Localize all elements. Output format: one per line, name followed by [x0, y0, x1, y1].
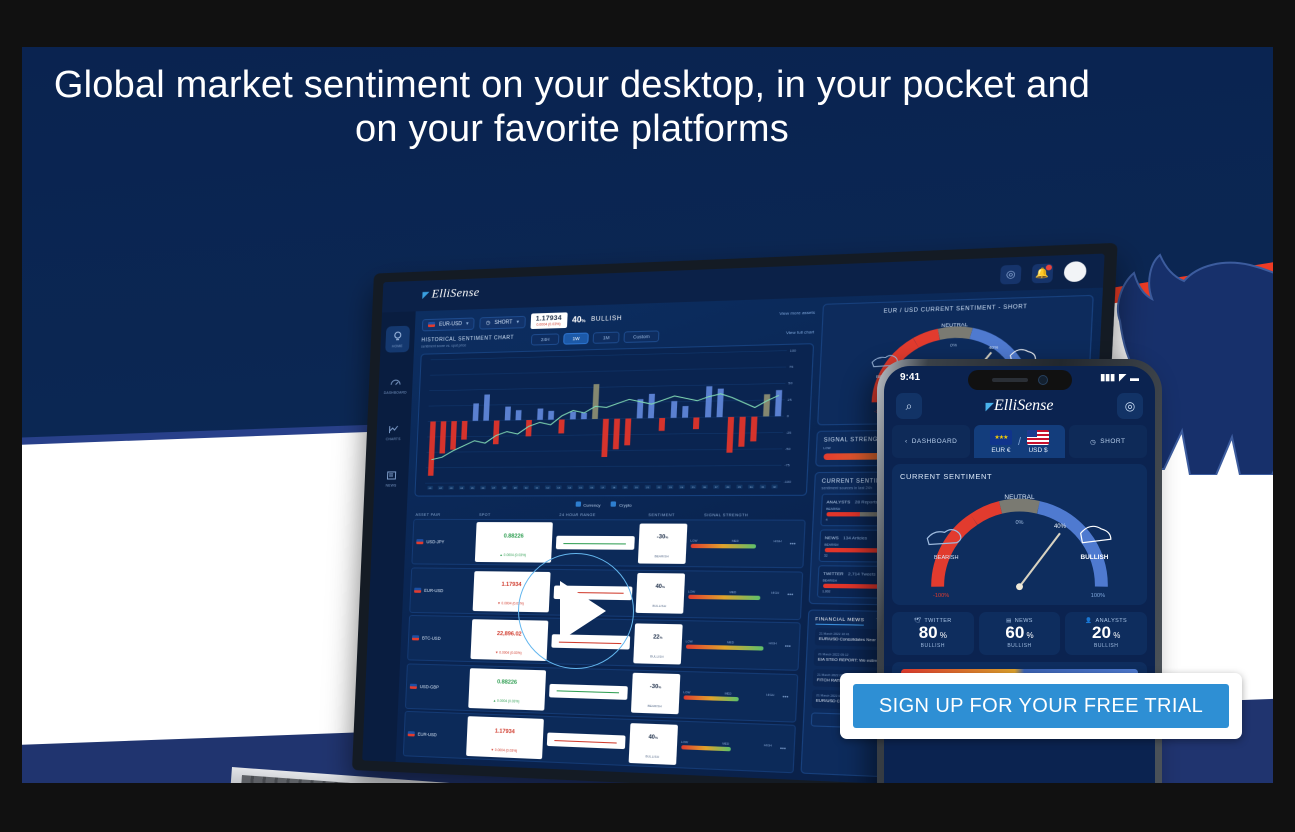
phone-stat-analysts: 👤ANALYSTS20 %BULLISH [1065, 612, 1147, 655]
camera-icon [1038, 375, 1048, 385]
sidebar-item-news[interactable]: NEWS [379, 465, 404, 491]
cell-sentiment: 40%BULLISH [635, 573, 684, 614]
screenshot-stage: Global market sentiment on your desktop,… [0, 0, 1295, 832]
cell-sentiment: -30%BEARISH [631, 673, 680, 715]
asset-pair-select[interactable]: EUR-USD ▾ [422, 317, 475, 331]
breakdown-count: 2,714 Tweets [848, 570, 876, 576]
cell-24h-range [556, 536, 635, 550]
sidebar-item-dashboard[interactable]: DASHBOARD [383, 372, 408, 399]
pair-flag-icon [428, 322, 435, 327]
play-triangle-icon [560, 581, 606, 641]
col-spot: SPOT [479, 512, 555, 516]
status-indicators: ▮▮▮ ◤ ▬ [1100, 372, 1139, 383]
breakdown-count: 28 Reports [855, 498, 878, 503]
stat-value: 20 % [1065, 624, 1147, 643]
row-menu-icon[interactable]: ••• [786, 541, 800, 548]
chevron-down-icon: ▾ [466, 320, 469, 326]
sentiment-percent: 40% [572, 315, 586, 325]
avatar[interactable] [1064, 261, 1087, 282]
svg-text:75: 75 [789, 365, 794, 369]
pair-flag-icon [408, 731, 415, 736]
svg-text:BULLISH: BULLISH [1080, 554, 1108, 561]
timeframe-custom[interactable]: Custom [623, 330, 660, 343]
sidebar-item-label: HOME [392, 344, 403, 348]
cell-asset-pair: EUR-USD [414, 587, 469, 593]
bulb-icon [392, 330, 404, 342]
signal-low: LOW [823, 446, 831, 450]
svg-text:40%: 40% [988, 344, 998, 350]
cell-spot: 1.17934▼ 0.0004 (0.03%) [466, 716, 544, 759]
asset-pair-value: EUR-USD [439, 320, 462, 327]
coins-icon[interactable]: ◎ [1000, 264, 1022, 284]
tab-financial-news[interactable]: FINANCIAL NEWS [815, 616, 865, 626]
breakdown-source: NEWS [825, 534, 839, 539]
stat-word: BULLISH [979, 643, 1061, 649]
us-flag-icon [1027, 430, 1049, 445]
cell-24h-range [547, 732, 626, 749]
svg-text:0%: 0% [1015, 520, 1023, 526]
cell-sentiment: -30%BEARISH [638, 523, 687, 563]
timeframe-24h[interactable]: 24H [531, 333, 559, 345]
col-signal: SIGNAL STRENGTH [704, 513, 803, 517]
cell-asset-pair: USD-JPY [416, 539, 471, 544]
battery-icon: ▬ [1130, 373, 1139, 383]
chart-icon [387, 423, 399, 435]
svg-text:40%: 40% [1054, 524, 1067, 530]
checkbox-icon [575, 501, 581, 506]
pair-flag-icon [414, 587, 421, 592]
svg-text:NEUTRAL: NEUTRAL [941, 322, 968, 328]
pair-quote: USD $ [1027, 430, 1049, 454]
phone-stat-news: ▤NEWS60 %BULLISH [979, 612, 1061, 655]
cell-signal-strength: LOWMEDHIGH [688, 589, 779, 600]
cell-signal-strength: LOWMEDHIGH [681, 740, 772, 753]
cell-asset-pair: BTC-USD [412, 635, 467, 641]
cell-spot: 0.88226▲ 0.0004 (0.03%) [468, 668, 546, 710]
svg-text:50: 50 [788, 381, 793, 385]
svg-text:100: 100 [790, 349, 797, 353]
breakdown-source: ANALYSTS [826, 498, 850, 503]
term-value: SHORT [494, 319, 512, 326]
filter-currency[interactable]: Currency [575, 501, 600, 507]
breakdown-count: 134 Articles [843, 534, 867, 540]
speaker-icon [992, 378, 1028, 382]
sidebar-item-charts[interactable]: CHARTS [381, 419, 406, 446]
phone-gauge-svg: NEUTRAL 0% 40% -100% 100% BEARISH BULLIS… [900, 485, 1139, 597]
pair-quote-label: USD $ [1028, 447, 1047, 454]
svg-text:-100%: -100% [933, 593, 949, 597]
pair-flag-icon [410, 683, 417, 688]
chevron-down-icon: ▾ [516, 319, 519, 325]
gauge-icon [389, 376, 401, 388]
term-selector[interactable]: ◷ SHORT [1069, 425, 1147, 458]
svg-text:NEUTRAL: NEUTRAL [1004, 494, 1035, 501]
svg-text:-50: -50 [785, 447, 791, 451]
phone-stat-twitter: 🕊TWITTER80 %BULLISH [892, 612, 974, 655]
stat-value: 80 % [892, 624, 974, 643]
pair-base-label: EUR € [991, 447, 1010, 454]
timeframe-1m[interactable]: 1M [593, 332, 619, 344]
cell-signal-strength: LOWMEDHIGH [683, 690, 774, 702]
phone-nav: ‹ DASHBOARD ★★★ EUR € / USD $ [884, 425, 1155, 458]
svg-text:-75: -75 [784, 463, 790, 467]
phone-notch [968, 370, 1072, 390]
svg-text:25: 25 [787, 398, 792, 402]
asset-filters: Currency Crypto [414, 501, 806, 508]
phone-sentiment-gauge: NEUTRAL 0% 40% -100% 100% BEARISH BULLIS… [900, 485, 1139, 597]
sidebar-item-label: DASHBOARD [384, 390, 407, 395]
timeframe-1w[interactable]: 1W [563, 332, 590, 344]
main-left-column: EUR-USD ▾ ◷ SHORT ▾ 1.17934 [403, 304, 816, 773]
cell-spot: 0.88226▲ 0.0004 (0.03%) [474, 522, 552, 563]
term-select[interactable]: ◷ SHORT ▾ [480, 315, 526, 329]
signal-icon: ▮▮▮ [1100, 372, 1115, 383]
pair-selector[interactable]: ★★★ EUR € / USD $ [974, 425, 1064, 458]
signup-button[interactable]: SIGN UP FOR YOUR FREE TRIAL [853, 684, 1229, 728]
logo-text: ElliSense [994, 397, 1054, 414]
chevron-left-icon: ‹ [905, 438, 908, 445]
stat-word: BULLISH [1065, 643, 1147, 649]
pair-flag-icon [412, 635, 419, 640]
svg-text:0%: 0% [949, 342, 957, 348]
svg-text:100%: 100% [1091, 593, 1105, 597]
phone-logo: ◤ElliSense [985, 397, 1053, 415]
row-menu-icon[interactable]: ••• [776, 745, 790, 752]
play-video-button[interactable] [518, 553, 634, 669]
logo-mark: ◤ [985, 401, 993, 413]
row-menu-icon[interactable]: ••• [781, 643, 795, 650]
view-full-chart-link[interactable]: View full chart [786, 329, 814, 335]
timeframe-group: 24H 1W 1M Custom [531, 330, 659, 345]
col-range: 24 HOUR RANGE [559, 512, 644, 516]
phone-current-sentiment-card: CURRENT SENTIMENT NEUTRAL 0% 40% [892, 464, 1147, 605]
headline-line-1: Global market sentiment on your desktop,… [22, 63, 1122, 107]
price-ticker: 1.17934 0.0004 (0.03%) [530, 312, 567, 329]
hero-section: Global market sentiment on your desktop,… [22, 47, 1273, 783]
table-row[interactable]: USD-JPY0.88226▲ 0.0004 (0.03%)-30%BEARIS… [411, 519, 805, 568]
pair-base: ★★★ EUR € [990, 430, 1012, 454]
svg-text:BEARISH: BEARISH [934, 555, 959, 561]
sidebar-item-label: NEWS [386, 484, 397, 488]
term-label: SHORT [1100, 438, 1125, 445]
cell-signal-strength: LOWMEDHIGH [685, 639, 776, 651]
news-icon [385, 469, 397, 481]
filter-crypto[interactable]: Crypto [611, 501, 632, 507]
breakdown-source: TWITTER [823, 570, 844, 576]
table-header: ASSET PAIR SPOT 24 HOUR RANGE SENTIMENT … [414, 512, 806, 517]
pair-flag-icon [416, 539, 423, 544]
checkbox-icon [611, 501, 617, 506]
pair-separator: / [1018, 436, 1021, 448]
stat-word: BULLISH [892, 643, 974, 649]
cell-sentiment: 22%BULLISH [633, 623, 682, 664]
col-sentiment: SENTIMENT [648, 512, 700, 516]
cell-24h-range [549, 683, 628, 699]
table-row[interactable]: EUR-USD1.17934▼ 0.0004 (0.03%)40%BULLISH… [403, 711, 796, 773]
chart-canvas: 1007550250-25-50-75-10001020304050607080… [415, 344, 812, 495]
sidebar-item-label: CHARTS [386, 437, 401, 441]
logo-mark: ◤ [422, 290, 430, 300]
clock-icon: ◷ [1090, 438, 1096, 446]
sidebar-item-home[interactable]: HOME [385, 326, 410, 353]
clock-icon: ◷ [486, 320, 491, 326]
headline-line-2: on your favorite platforms [22, 107, 1122, 151]
svg-text:-25: -25 [786, 431, 792, 435]
row-menu-icon[interactable]: ••• [783, 592, 797, 599]
col-asset-pair: ASSET PAIR [416, 512, 476, 516]
eu-flag-icon: ★★★ [990, 430, 1012, 445]
view-more-assets-link[interactable]: View more assets [779, 309, 815, 316]
search-icon[interactable]: ⌕ [896, 393, 922, 419]
cell-signal-strength: LOWMEDHIGH [690, 539, 782, 549]
phone-stats-row: 🕊TWITTER80 %BULLISH▤NEWS60 %BULLISH👤ANAL… [892, 612, 1147, 655]
cell-asset-pair: USD-GBP [410, 683, 465, 690]
app-logo: ◤ElliSense [422, 285, 480, 302]
back-to-dashboard[interactable]: ‹ DASHBOARD [892, 425, 970, 458]
status-time: 9:41 [900, 372, 920, 383]
svg-text:-100: -100 [784, 480, 792, 484]
back-label: DASHBOARD [912, 438, 958, 445]
logo-text: ElliSense [431, 285, 479, 301]
sentiment-word: BULLISH [591, 315, 622, 322]
stat-value: 60 % [979, 624, 1061, 643]
signup-cta-wrapper[interactable]: SIGN UP FOR YOUR FREE TRIAL [840, 673, 1242, 739]
card-title: CURRENT SENTIMENT [900, 472, 1139, 481]
price-change: 0.0004 (0.03%) [536, 322, 560, 327]
bell-icon[interactable]: 🔔 [1032, 263, 1054, 283]
page-title: Global market sentiment on your desktop,… [22, 63, 1122, 151]
svg-text:0: 0 [787, 414, 790, 418]
coins-icon[interactable]: ◎ [1117, 393, 1143, 419]
notification-dot [1046, 264, 1052, 270]
historical-sentiment-chart[interactable]: 1007550250-25-50-75-10001020304050607080… [414, 343, 813, 496]
wifi-icon: ◤ [1119, 372, 1126, 383]
cell-sentiment: 40%BULLISH [628, 723, 677, 765]
row-menu-icon[interactable]: ••• [778, 694, 792, 701]
cell-asset-pair: EUR-USD [408, 731, 463, 738]
